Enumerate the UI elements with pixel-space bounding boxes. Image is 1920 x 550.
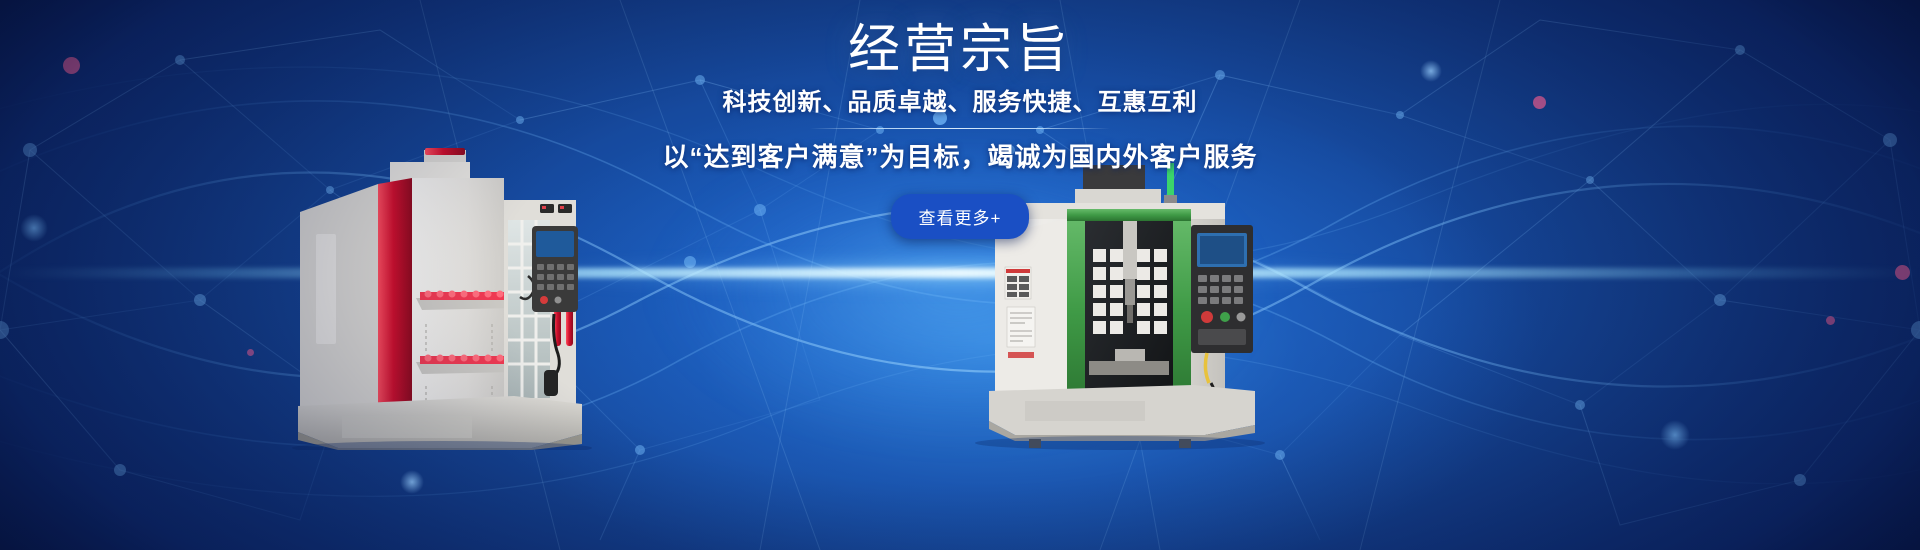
hero-banner: 经营宗旨 科技创新、品质卓越、服务快捷、互惠互利 以“达到客户满意”为目标，竭诚… <box>0 0 1920 550</box>
banner-content: 经营宗旨 科技创新、品质卓越、服务快捷、互惠互利 以“达到客户满意”为目标，竭诚… <box>0 0 1920 550</box>
view-more-button[interactable]: 查看更多+ <box>891 194 1030 239</box>
page-title: 经营宗旨 <box>560 22 1360 78</box>
divider <box>810 128 1110 129</box>
subtitle-line-2: 以“达到客户满意”为目标，竭诚为国内外客户服务 <box>560 141 1360 174</box>
subtitle-line-1: 科技创新、品质卓越、服务快捷、互惠互利 <box>560 88 1360 118</box>
copy-block: 经营宗旨 科技创新、品质卓越、服务快捷、互惠互利 以“达到客户满意”为目标，竭诚… <box>560 22 1360 239</box>
